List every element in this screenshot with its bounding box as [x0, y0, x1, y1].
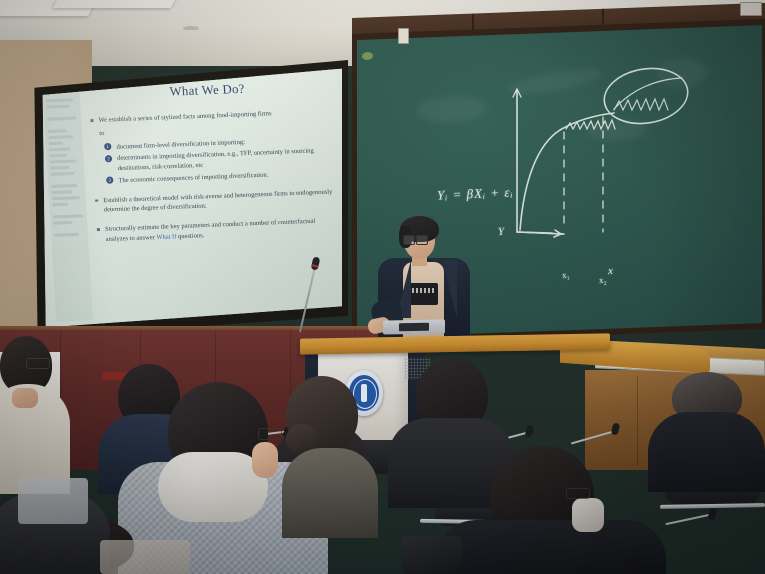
slide-body: We establish a series of stylized facts …	[89, 107, 337, 249]
wall-outlet	[740, 2, 762, 16]
number-badge-1: 1	[104, 143, 112, 150]
chalk-axis-label-x: x	[608, 265, 613, 277]
chalk-axis-label-y: Y	[498, 226, 505, 238]
slide-bullet-text-after: questions.	[176, 232, 204, 240]
glasses-icon	[26, 358, 50, 369]
slide-highlight-what-if: What If	[156, 233, 177, 241]
number-badge-2: 2	[105, 155, 113, 162]
face-mask	[572, 498, 604, 532]
hand	[252, 442, 278, 478]
bag	[402, 536, 462, 574]
slide-numbered-text: document firm-level diversification in i…	[116, 139, 245, 151]
ceiling-light-panel	[52, 0, 185, 8]
glasses-icon	[258, 428, 282, 440]
speaker-shirt-graphic	[409, 283, 438, 305]
speaker-lapel-right	[442, 260, 457, 318]
projection-screen: What We Do? We establish a series of sty…	[36, 66, 342, 330]
presentation-slide: What We Do? We establish a series of sty…	[36, 66, 342, 330]
slide-bullet-text-before: Structurally estimate the key parameters…	[105, 218, 316, 243]
desk-paper	[100, 540, 190, 574]
slide-bullet: Establish a theoretical model with risk-…	[94, 187, 336, 216]
podium-laptop	[383, 319, 445, 334]
chalk-tick-x2: x₂	[599, 275, 607, 285]
glasses-icon	[566, 488, 590, 499]
speaker-glasses-icon	[403, 235, 427, 243]
number-badge-3: 3	[106, 177, 114, 184]
hand	[12, 388, 38, 408]
chalk-tick-x1: x₁	[562, 270, 570, 280]
lecture-hall-photo: Yᵢ = βXᵢ + εᵢ Y x x₁ x₂	[0, 0, 765, 574]
bag	[18, 478, 88, 524]
